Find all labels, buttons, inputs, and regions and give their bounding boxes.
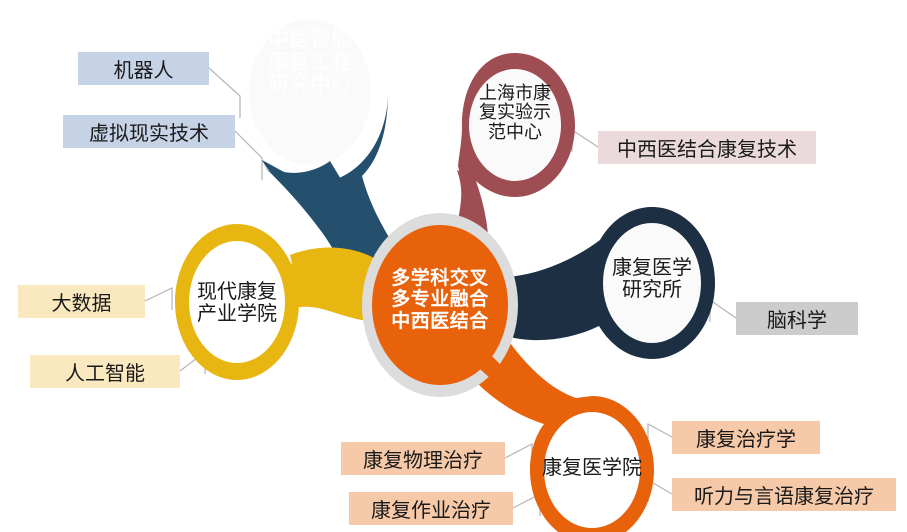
tag-box-rehab-physical[interactable]: 康复物理治疗 bbox=[341, 442, 505, 475]
leader-line-rehab-therapy bbox=[648, 424, 672, 446]
leader-line-robot bbox=[209, 68, 240, 118]
node-inner-tcm-center bbox=[249, 19, 371, 165]
leader-line-big-data bbox=[145, 288, 172, 310]
tag-box-rehab-occupational[interactable]: 康复作业治疗 bbox=[349, 492, 513, 525]
tag-box-tcm-western-rehab[interactable]: 中西医结合康复技术 bbox=[598, 131, 816, 164]
node-inner-college bbox=[544, 412, 640, 528]
diagram-canvas: 中医智能 康复工程 研究中心 上海市康 复实验示 范中心 康复医学 研究所 康复… bbox=[0, 0, 907, 532]
node-inner-shanghai bbox=[469, 69, 561, 181]
tag-box-artificial-intel[interactable]: 人工智能 bbox=[30, 355, 180, 388]
tag-box-rehab-therapy[interactable]: 康复治疗学 bbox=[672, 421, 820, 454]
tag-box-big-data[interactable]: 大数据 bbox=[18, 285, 145, 318]
leader-line-tcm-western-rehab bbox=[572, 130, 598, 152]
leader-line-virtual-reality bbox=[235, 131, 262, 180]
tag-box-virtual-reality[interactable]: 虚拟现实技术 bbox=[63, 115, 235, 148]
node-inner-industry-college bbox=[189, 241, 285, 363]
tag-box-brain-science[interactable]: 脑科学 bbox=[736, 302, 858, 335]
leader-line-brain-science bbox=[710, 300, 736, 322]
node-inner-institute bbox=[603, 223, 701, 343]
tag-box-hearing-speech[interactable]: 听力与言语康复治疗 bbox=[672, 478, 896, 511]
leader-line-rehab-physical bbox=[505, 444, 532, 466]
tag-box-robot[interactable]: 机器人 bbox=[78, 52, 209, 85]
